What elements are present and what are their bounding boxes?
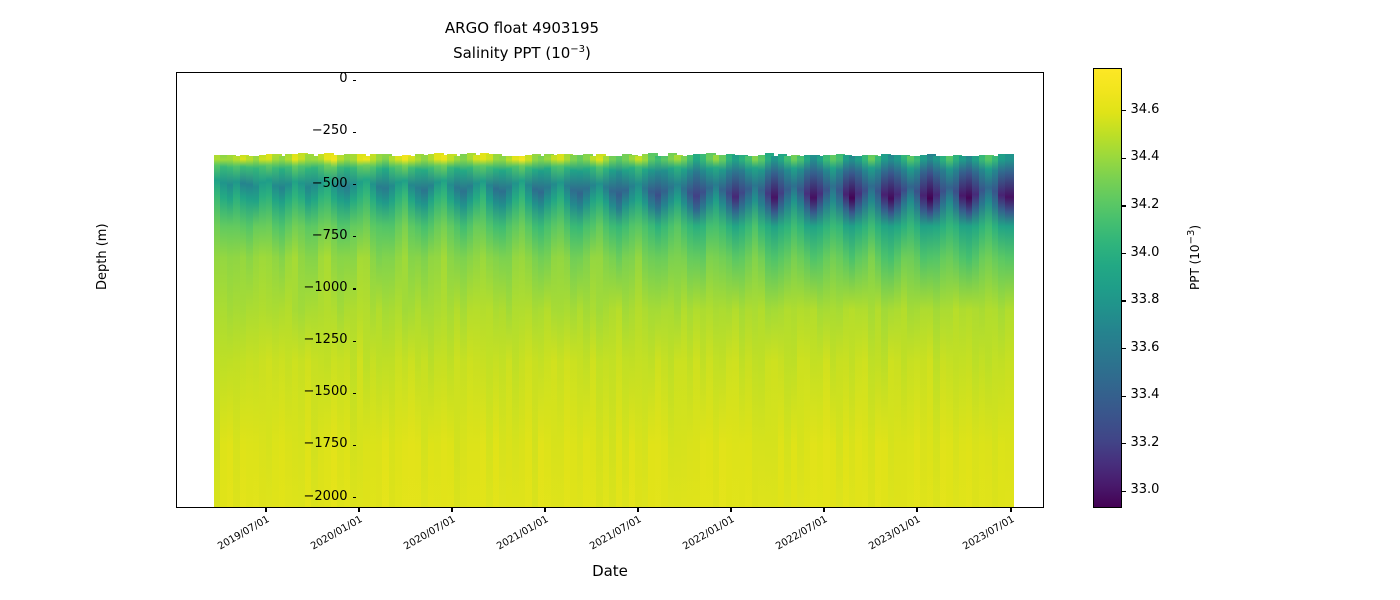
x-axis-tick-mark: [544, 508, 545, 512]
colorbar-tick-mark: [1122, 348, 1126, 349]
y-axis-tick-label: 0: [339, 71, 347, 86]
x-axis-tick-mark: [637, 508, 638, 512]
y-axis-tick-label: −750: [312, 228, 348, 243]
y-axis-tick-mark: [353, 288, 357, 289]
y-axis-tick-mark: [353, 236, 357, 237]
y-axis-tick-label: −1500: [304, 384, 348, 399]
x-axis-tick-label: 2022/01/01: [667, 514, 737, 561]
y-axis-tick-mark: [353, 132, 357, 133]
chart-title: ARGO float 4903195: [0, 16, 1044, 41]
x-axis-tick-mark: [916, 508, 917, 512]
x-axis-tick-mark: [358, 508, 359, 512]
y-axis-tick-label: −1000: [304, 280, 348, 295]
y-axis-tick-label: −1750: [304, 436, 348, 451]
x-axis-tick-mark: [1010, 508, 1011, 512]
colorbar-tick-mark: [1122, 491, 1126, 492]
colorbar-tick-label: 33.2: [1131, 435, 1160, 450]
x-axis-tick-mark: [823, 508, 824, 512]
x-axis-tick-mark: [265, 508, 266, 512]
x-axis-tick-label: 2023/07/01: [947, 514, 1017, 561]
x-axis-label: Date: [176, 562, 1044, 580]
figure: ARGO float 4903195 Salinity PPT (10−3) 0…: [0, 0, 1400, 600]
y-axis-tick-label: −250: [312, 123, 348, 138]
x-axis-tick-label: 2023/01/01: [853, 514, 923, 561]
colorbar-label-suffix: ): [1188, 225, 1202, 230]
colorbar-tick-label: 33.6: [1131, 340, 1160, 355]
x-axis-tick-label: 2020/07/01: [388, 514, 458, 561]
y-axis-tick-mark: [353, 184, 357, 185]
colorbar: [1093, 68, 1122, 508]
colorbar-label-prefix: PPT (10: [1188, 244, 1202, 290]
colorbar-tick-mark: [1122, 110, 1126, 111]
colorbar-tick-label: 34.4: [1131, 149, 1160, 164]
y-axis-tick-mark: [353, 445, 357, 446]
x-axis-tick-mark: [730, 508, 731, 512]
chart-subtitle: Salinity PPT (10−3): [0, 41, 1044, 66]
colorbar-tick-label: 34.2: [1131, 197, 1160, 212]
y-axis-tick-label: −2000: [304, 489, 348, 504]
y-axis-tick-mark: [353, 393, 357, 394]
y-axis-tick-mark: [353, 341, 357, 342]
profile-column: [1005, 154, 1014, 508]
colorbar-tick-label: 34.6: [1131, 102, 1160, 117]
colorbar-label: PPT (10−3): [1188, 225, 1202, 290]
y-axis-tick-mark: [353, 497, 357, 498]
colorbar-tick-label: 34.0: [1131, 245, 1160, 260]
colorbar-tick-mark: [1122, 396, 1126, 397]
y-axis-label: Depth (m): [95, 223, 110, 290]
x-axis-tick-label: 2022/07/01: [760, 514, 830, 561]
colorbar-label-exponent: −3: [1186, 230, 1197, 245]
colorbar-tick-mark: [1122, 205, 1126, 206]
colorbar-tick-mark: [1122, 253, 1126, 254]
x-axis-tick-label: 2021/07/01: [574, 514, 644, 561]
colorbar-tick-label: 33.8: [1131, 292, 1160, 307]
colorbar-tick-label: 33.4: [1131, 387, 1160, 402]
y-axis-tick-label: −1250: [304, 332, 348, 347]
colorbar-gradient: [1094, 69, 1121, 507]
chart-subtitle-exponent: −3: [570, 44, 585, 55]
colorbar-tick-mark: [1122, 158, 1126, 159]
colorbar-tick-mark: [1122, 300, 1126, 301]
chart-subtitle-suffix: ): [585, 44, 591, 62]
y-axis-tick-label: −500: [312, 176, 348, 191]
colorbar-tick-label: 33.0: [1131, 482, 1160, 497]
x-axis-tick-label: 2021/01/01: [481, 514, 551, 561]
chart-subtitle-prefix: Salinity PPT (10: [453, 44, 570, 62]
x-axis-tick-label: 2019/07/01: [202, 514, 272, 561]
x-axis-tick-label: 2020/01/01: [295, 514, 365, 561]
x-axis-tick-mark: [451, 508, 452, 512]
colorbar-tick-mark: [1122, 443, 1126, 444]
y-axis-tick-mark: [353, 80, 357, 81]
